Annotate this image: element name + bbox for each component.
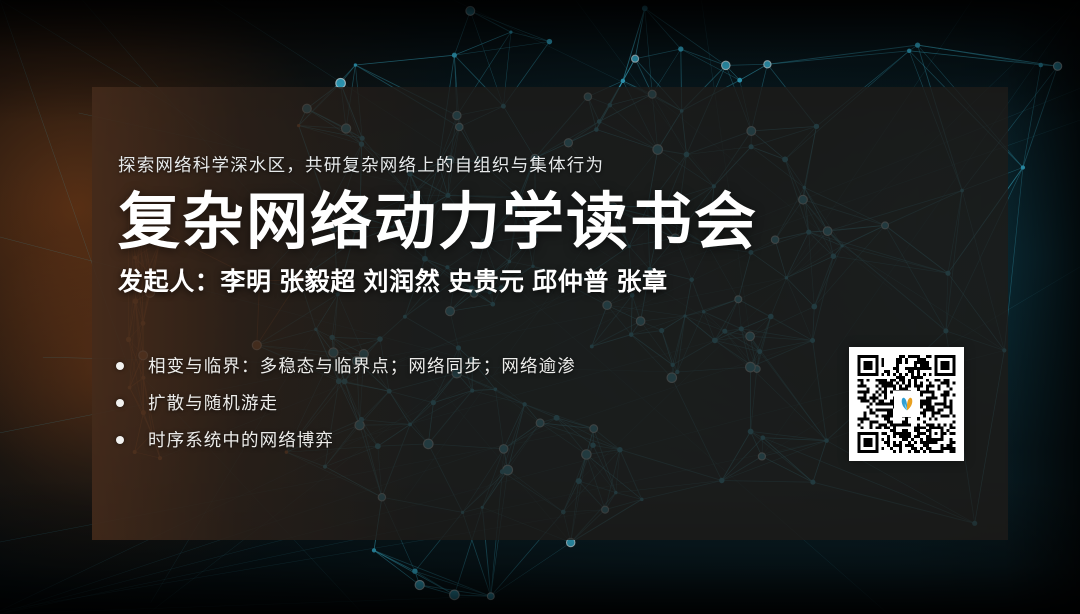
organizers-line: 发起人：李明 张毅超 刘润然 史贵元 邱仲普 张章 — [118, 267, 668, 298]
bullet-dot-icon — [116, 436, 124, 444]
poster-root: 探索网络科学深水区，共研复杂网络上的自组织与集体行为 复杂网络动力学读书会 发起… — [0, 0, 1080, 614]
bullet-dot-icon — [116, 362, 124, 370]
topics-list: 相变与临界：多稳态与临界点；网络同步；网络逾渗扩散与随机游走时序系统中的网络博弈 — [116, 347, 576, 458]
topic-label: 相变与临界：多稳态与临界点；网络同步；网络逾渗 — [148, 353, 576, 378]
list-item: 时序系统中的网络博弈 — [116, 421, 576, 458]
content-area: 探索网络科学深水区，共研复杂网络上的自组织与集体行为 复杂网络动力学读书会 发起… — [118, 87, 1008, 540]
bullet-dot-icon — [116, 399, 124, 407]
list-item: 扩散与随机游走 — [116, 384, 576, 421]
poster-title: 复杂网络动力学读书会 — [118, 191, 758, 254]
topic-label: 时序系统中的网络博弈 — [148, 427, 334, 452]
butterfly-logo — [894, 391, 920, 417]
topic-label: 扩散与随机游走 — [148, 390, 278, 415]
poster-tagline: 探索网络科学深水区，共研复杂网络上的自组织与集体行为 — [118, 155, 604, 176]
list-item: 相变与临界：多稳态与临界点；网络同步；网络逾渗 — [116, 347, 576, 384]
qr-code[interactable] — [849, 347, 964, 461]
